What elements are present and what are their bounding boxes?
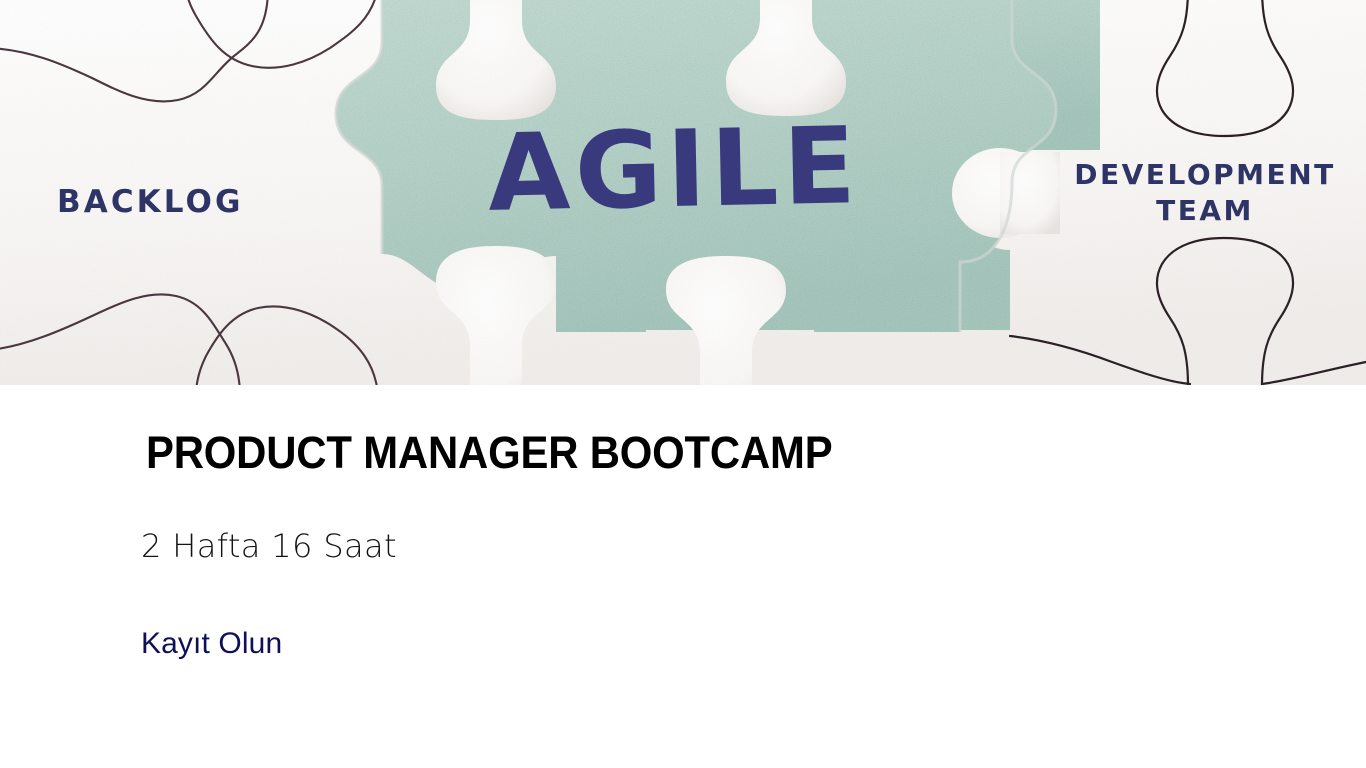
puzzle-label-development-team: DEVELOPMENT TEAM bbox=[1055, 157, 1355, 229]
course-duration: 2 Hafta 16 Saat bbox=[141, 527, 397, 565]
puzzle-label-development: DEVELOPMENT bbox=[1074, 158, 1336, 191]
course-landing-page: BACKLOG AGILE DEVELOPMENT TEAM PRODUCT M… bbox=[0, 0, 1366, 768]
course-title: PRODUCT MANAGER BOOTCAMP bbox=[146, 429, 832, 476]
signup-link[interactable]: Kayıt Olun bbox=[141, 626, 282, 662]
puzzle-label-agile: AGILE bbox=[487, 104, 862, 235]
puzzle-label-backlog: BACKLOG bbox=[57, 184, 244, 220]
hero-banner-image: BACKLOG AGILE DEVELOPMENT TEAM bbox=[0, 0, 1366, 385]
course-info-section: PRODUCT MANAGER BOOTCAMP 2 Hafta 16 Saat… bbox=[0, 385, 1366, 768]
puzzle-label-team: TEAM bbox=[1055, 193, 1355, 229]
